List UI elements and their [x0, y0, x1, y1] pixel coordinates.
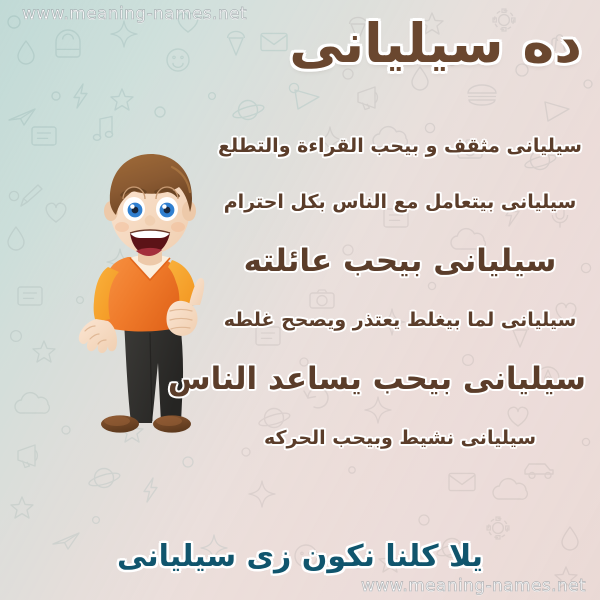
watermark-bottom: www.meaning-names.net [361, 576, 586, 596]
traits-list: سيليانى مثقف و بيحب القراءة والتطلع سيلي… [214, 118, 586, 466]
trait-line-4: سيليانى لما بيغلط يعتذر ويصحح غلطه [214, 292, 586, 348]
trait-line-1: سيليانى مثقف و بيحب القراءة والتطلع [214, 118, 586, 174]
poster-canvas: www.meaning-names.net ده سيليانى [0, 0, 600, 600]
trait-line-3: سيليانى بيحب عائلته [214, 230, 586, 292]
trait-line-6: سيليانى نشيط وبيحب الحركه [214, 410, 586, 466]
slogan-text: يلا كلنا نكون زى سيليانى [0, 539, 600, 574]
trait-line-5: سيليانى بيحب يساعد الناس [214, 348, 586, 410]
watermark-top: www.meaning-names.net [22, 4, 247, 24]
trait-line-2: سيليانى بيتعامل مع الناس بكل احترام [214, 174, 586, 230]
page-title: ده سيليانى [289, 14, 582, 74]
